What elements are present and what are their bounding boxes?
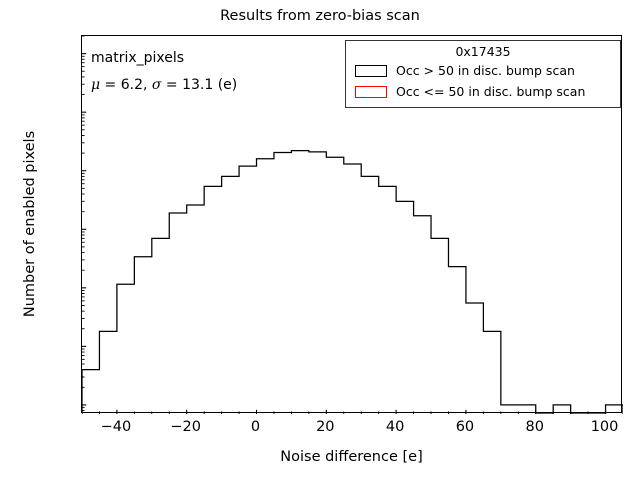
- legend-item-1[interactable]: Occ <= 50 in disc. bump scan: [346, 81, 620, 102]
- x-tick-6: 80: [505, 419, 565, 435]
- x-tick-2: 0: [226, 419, 286, 435]
- legend-swatch-black-icon: [355, 65, 387, 77]
- legend-item-0[interactable]: Occ > 50 in disc. bump scan: [346, 60, 620, 81]
- dataset-annotation: matrix_pixels: [91, 50, 184, 66]
- x-tick-3: 20: [295, 419, 355, 435]
- mu-symbol: μ: [91, 77, 100, 93]
- stats-tail-text: = 13.1 (e): [161, 77, 237, 93]
- stats-annotation: μ = 6.2, σ = 13.1 (e): [91, 77, 237, 93]
- stats-mid-text: = 6.2,: [100, 77, 152, 93]
- chart-title: Results from zero-bias scan: [0, 8, 640, 24]
- legend-box: 0x17435 Occ > 50 in disc. bump scan Occ …: [345, 40, 621, 108]
- histogram-step-primary: [82, 151, 623, 414]
- x-axis-label: Noise difference [e]: [81, 449, 622, 465]
- legend-label-1: Occ <= 50 in disc. bump scan: [396, 84, 585, 99]
- x-tick-0: −40: [86, 419, 146, 435]
- y-axis-label: Number of enabled pixels: [22, 131, 38, 317]
- legend-swatch-red-icon: [355, 86, 387, 98]
- legend-label-0: Occ > 50 in disc. bump scan: [396, 63, 575, 78]
- x-tick-7: 100: [575, 419, 635, 435]
- legend-title: 0x17435: [346, 44, 620, 60]
- x-tick-4: 40: [365, 419, 425, 435]
- figure-canvas: Results from zero-bias scan Number of en…: [0, 0, 640, 480]
- x-tick-5: 60: [435, 419, 495, 435]
- x-tick-1: −20: [156, 419, 216, 435]
